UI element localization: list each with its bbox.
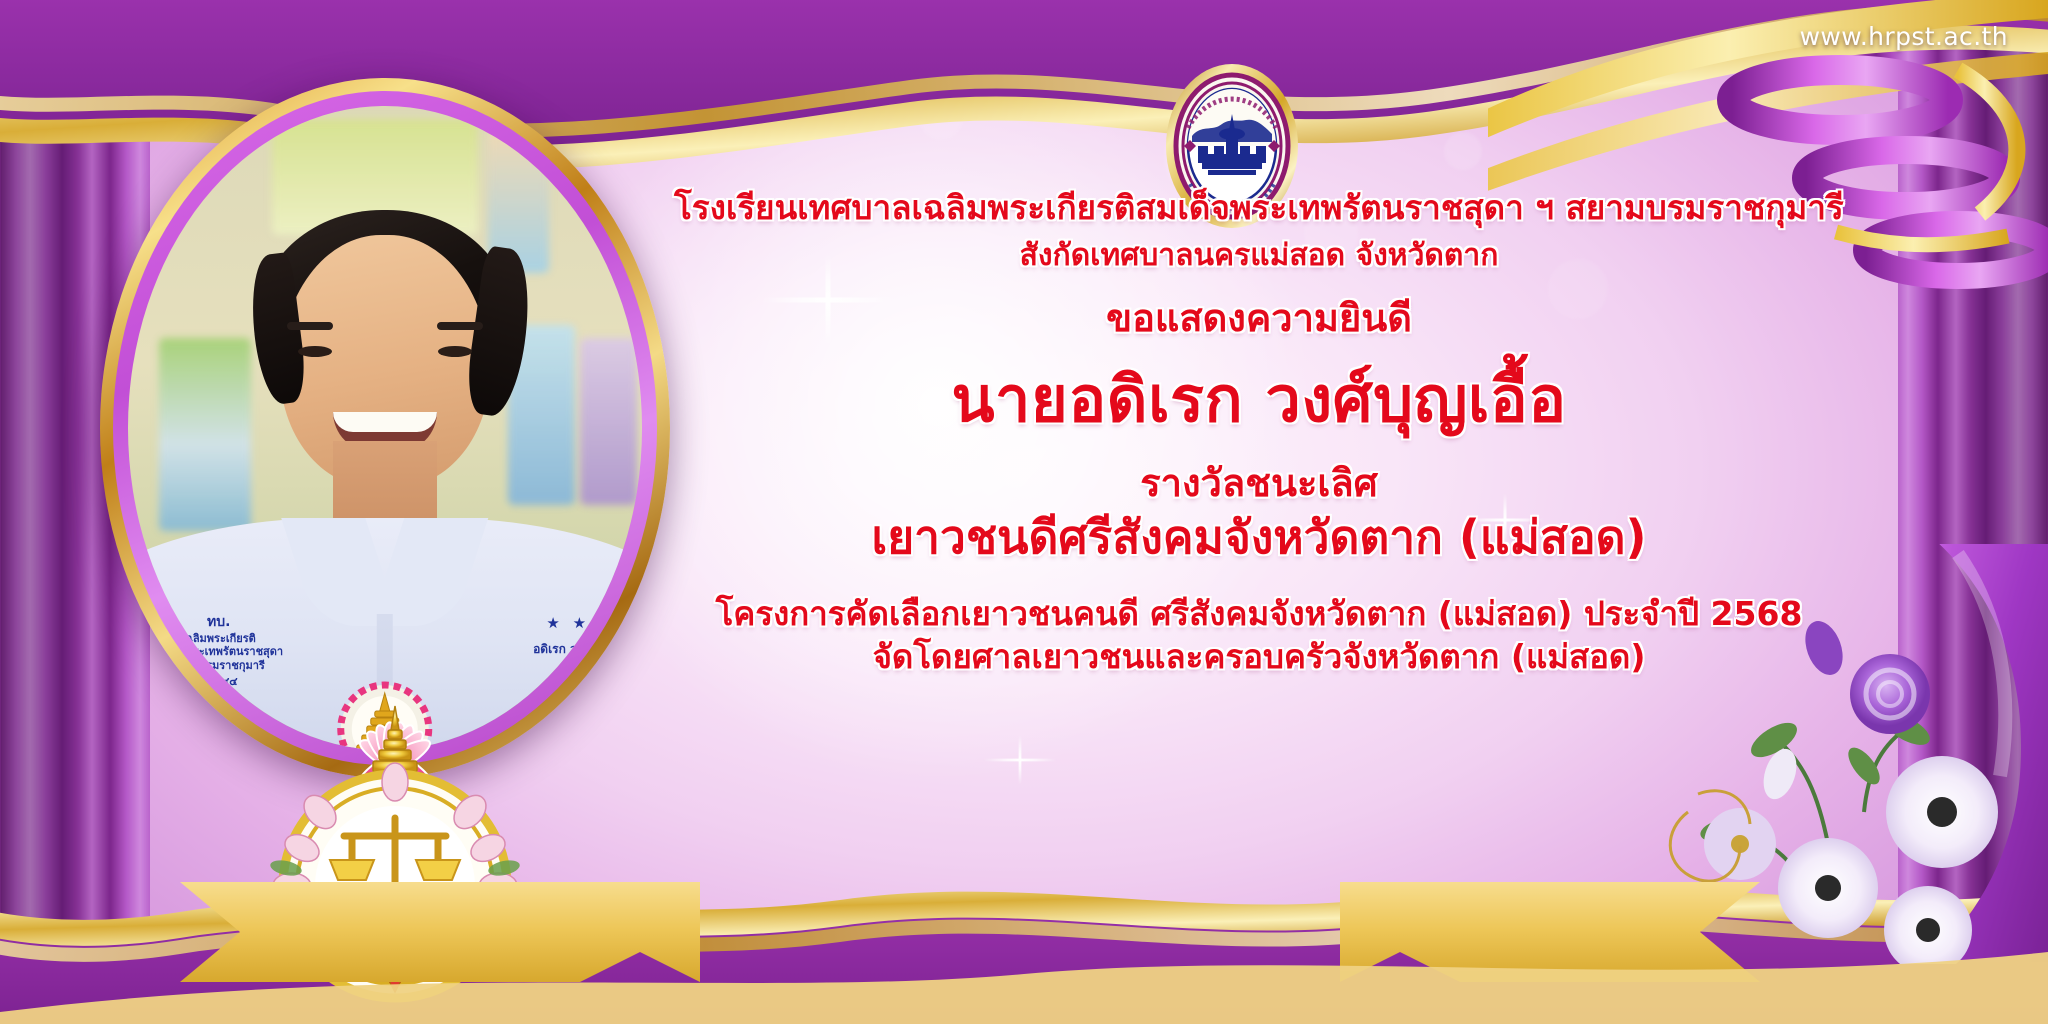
- school-name-line1: โรงเรียนเทศบาลเฉลิมพระเกียรติสมเด็จพระเท…: [560, 190, 1958, 227]
- bokeh-dot: [919, 96, 963, 140]
- project-line: โครงการคัดเลือกเยาวชนคนดี ศรีสังคมจังหวั…: [560, 596, 1958, 633]
- student-eye-left: [298, 346, 332, 357]
- backdrop-poster: [159, 338, 252, 531]
- certificate-banner: ทบ. เฉลิมพระเกียรติ สมเด็จพระเทพรัตนราชส…: [0, 0, 2048, 1024]
- congratulation-heading: ขอแสดงความยินดี: [560, 297, 1958, 340]
- prize-rank: รางวัลชนะเลิศ: [560, 462, 1958, 505]
- award-title: เยาวชนดีศรีสังคมจังหวัดตาก (แม่สอด): [560, 512, 1958, 564]
- recipient-name: นายอดิเรก วงศ์บุญเอื้อ: [560, 365, 1958, 436]
- website-url[interactable]: www.hrpst.ac.th: [1800, 22, 2008, 51]
- bokeh-dot: [1444, 132, 1482, 170]
- uniform-collar-right: [369, 518, 488, 626]
- student-brow-right: [437, 322, 483, 330]
- student-brow-left: [287, 322, 333, 330]
- court-of-justice-emblem-icon: [240, 700, 550, 1018]
- uniform-badge-text: ทบ. เฉลิมพระเกียรติ สมเด็จพระเทพรัตนราชส…: [154, 614, 284, 689]
- student-teeth: [333, 412, 437, 432]
- student-eye-right: [438, 346, 472, 357]
- school-name-line2: สังกัดเทศบาลนครแม่สอด จังหวัดตาก: [560, 239, 1958, 273]
- certificate-text-block: โรงเรียนเทศบาลเฉลิมพระเกียรติสมเด็จพระเท…: [560, 190, 1958, 676]
- organizer-line: จัดโดยศาลเยาวชนและครอบครัวจังหวัดตาก (แม…: [560, 639, 1958, 676]
